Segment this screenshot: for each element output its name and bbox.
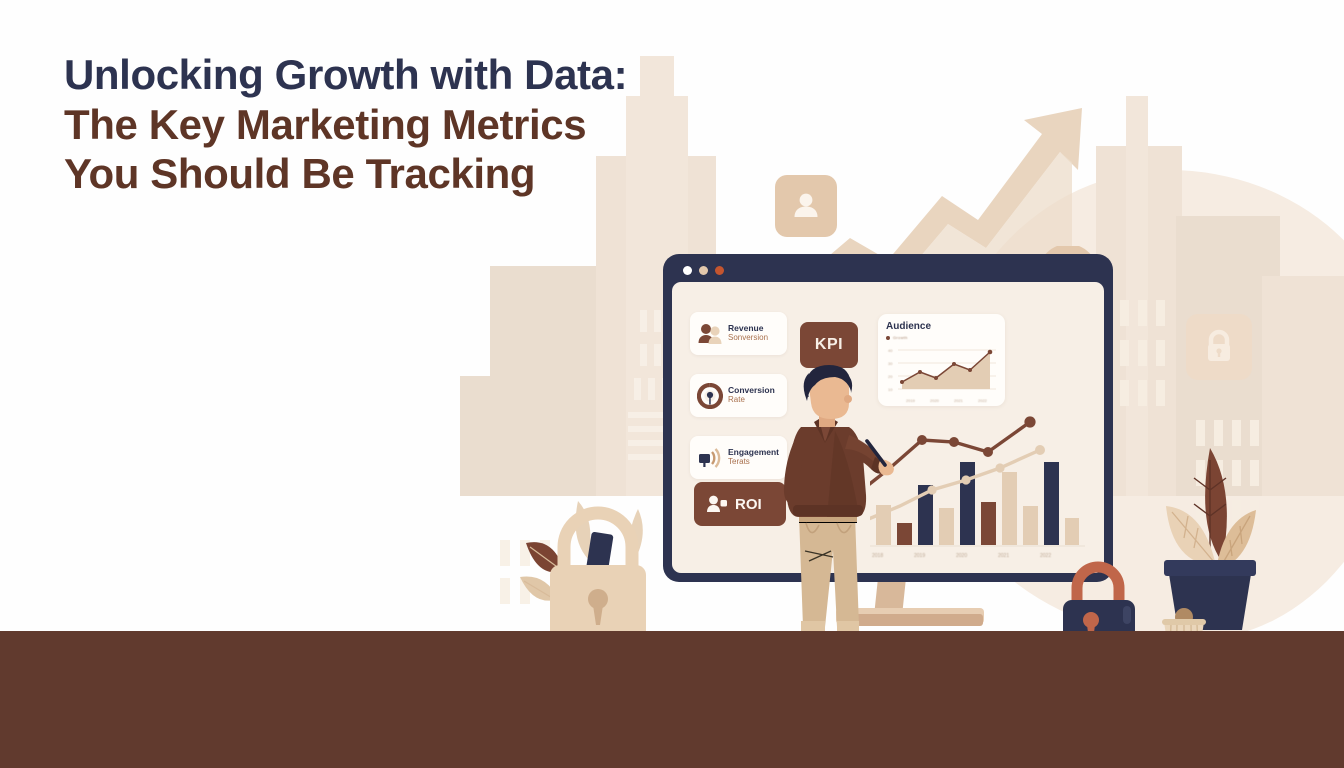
svg-text:2021: 2021 (954, 398, 964, 403)
lock-badge (1186, 314, 1252, 380)
maximize-dot[interactable] (715, 266, 724, 275)
metric-card-subtitle: Rate (728, 396, 775, 405)
kpi-badge[interactable]: KPI (800, 322, 858, 368)
headline-line-2: The Key Marketing Metrics (64, 100, 764, 150)
metric-card-conversion[interactable]: Conversion Rate (690, 374, 787, 417)
user-icon (789, 189, 823, 223)
padlock-large-beige (520, 495, 685, 645)
svg-text:2019: 2019 (906, 398, 916, 403)
audience-chart-legend: Growth (886, 335, 997, 340)
audience-line-chart: 4030 2010 20192020 20212022 (886, 342, 998, 406)
svg-text:2021: 2021 (998, 553, 1009, 559)
metric-card-subtitle: Terats (728, 458, 779, 467)
illustration-canvas: Unlocking Growth with Data: The Key Mark… (0, 0, 1344, 768)
legend-dot (886, 336, 890, 340)
broadcast-icon (697, 446, 723, 470)
kpi-label: KPI (815, 336, 843, 354)
target-icon (697, 383, 723, 409)
metric-card-revenue[interactable]: Revenue Sonversion (690, 312, 787, 355)
close-dot[interactable] (683, 266, 692, 275)
lock-icon (1201, 328, 1237, 366)
people-icon (697, 322, 723, 346)
svg-text:2020: 2020 (956, 553, 967, 559)
svg-text:2020: 2020 (930, 398, 940, 403)
legend-label: Growth (893, 335, 908, 340)
floor (0, 631, 1344, 768)
window-titlebar (669, 260, 1107, 280)
metric-card-subtitle: Sonversion (728, 334, 768, 343)
metric-card-engagement[interactable]: Engagement Terats (690, 436, 787, 479)
roi-label: ROI (735, 496, 762, 513)
svg-text:2022: 2022 (978, 398, 988, 403)
audience-chart-panel[interactable]: Audience Growth 4030 2010 20192 (878, 314, 1005, 406)
headline-line-1: Unlocking Growth with Data: (64, 50, 764, 100)
headline-line-3: You Should Be Tracking (64, 149, 764, 199)
roi-button[interactable]: ROI (694, 482, 786, 526)
main-bar-chart[interactable]: 20182019 20202021 2022 (870, 410, 1085, 565)
svg-text:2019: 2019 (914, 553, 925, 559)
svg-text:2022: 2022 (1040, 553, 1051, 559)
audience-chart-title: Audience (886, 321, 997, 332)
svg-text:40: 40 (888, 348, 893, 353)
user-badge (775, 175, 837, 237)
page-title: Unlocking Growth with Data: The Key Mark… (64, 50, 764, 199)
minimize-dot[interactable] (699, 266, 708, 275)
user-add-icon (706, 494, 728, 514)
